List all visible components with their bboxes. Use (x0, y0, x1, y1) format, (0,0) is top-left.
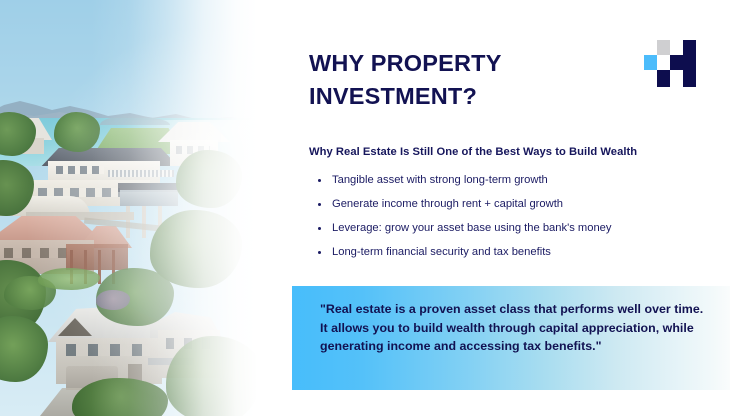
list-item: Leverage: grow your asset base using the… (314, 216, 714, 240)
hero-photo (0, 0, 268, 416)
company-logo[interactable] (644, 40, 696, 87)
page-title-line-1: WHY PROPERTY (309, 47, 639, 80)
photo-image (0, 0, 268, 416)
bullet-dot-icon (318, 227, 321, 230)
section-subtitle: Why Real Estate Is Still One of the Best… (309, 146, 709, 158)
content-pane: WHY PROPERTY INVESTMENT? Why Real Estate… (268, 0, 740, 416)
logo-cell-grey-top (657, 40, 670, 55)
bullet-dot-icon (318, 179, 321, 182)
logo-cell-navy-right-top (683, 40, 696, 55)
quote-callout: "Real estate is a proven asset class tha… (292, 286, 730, 390)
list-item: Generate income through rent + capital g… (314, 192, 714, 216)
page-title-line-2: INVESTMENT? (309, 80, 639, 113)
bullet-dot-icon (318, 251, 321, 254)
logo-cell-navy-bottom-mid (657, 70, 670, 87)
logo-cell-cyan-left (644, 55, 657, 70)
list-item-label: Long-term financial security and tax ben… (332, 246, 551, 258)
benefits-list: Tangible asset with strong long-term gro… (314, 168, 714, 264)
list-item-label: Generate income through rent + capital g… (332, 198, 563, 210)
logo-cell-navy-bottom-right (683, 70, 696, 87)
bullet-dot-icon (318, 203, 321, 206)
list-item-label: Leverage: grow your asset base using the… (332, 222, 612, 234)
page-title: WHY PROPERTY INVESTMENT? (309, 47, 639, 114)
photo-fade-overlay (0, 0, 268, 416)
list-item-label: Tangible asset with strong long-term gro… (332, 174, 548, 186)
logo-cell-navy-crossbar (670, 55, 696, 70)
slide-root: WHY PROPERTY INVESTMENT? Why Real Estate… (0, 0, 740, 416)
list-item: Tangible asset with strong long-term gro… (314, 168, 714, 192)
list-item: Long-term financial security and tax ben… (314, 240, 714, 264)
quote-text: "Real estate is a proven asset class tha… (320, 300, 712, 356)
